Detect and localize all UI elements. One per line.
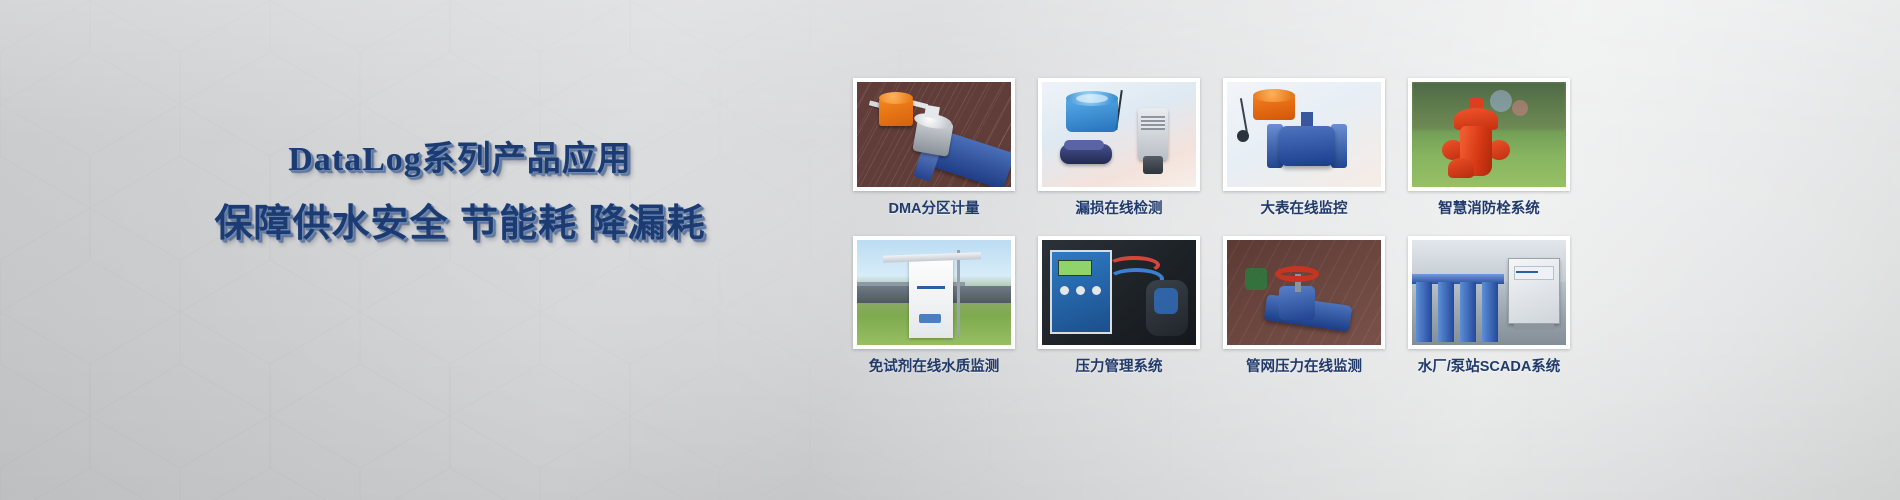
grid-item-caption: 免试剂在线水质监测 — [853, 358, 1015, 376]
grid-item-dma-zone-metering[interactable]: DMA分区计量 — [853, 78, 1015, 218]
grid-item-pressure-management-system[interactable]: 压力管理系统 — [1038, 236, 1200, 376]
pressure-management-system-photo — [1042, 240, 1196, 345]
grid-item-smart-fire-hydrant[interactable]: 智慧消防栓系统 — [1408, 78, 1570, 218]
grid-item-caption: DMA分区计量 — [853, 200, 1015, 218]
grid-item-caption: 水厂/泵站SCADA系统 — [1408, 358, 1570, 376]
product-application-grid: DMA分区计量 漏损在线检测 大表在线监控 — [853, 78, 1570, 376]
thumbnail-frame[interactable] — [1408, 78, 1570, 191]
grid-item-caption: 智慧消防栓系统 — [1408, 200, 1570, 218]
grid-item-caption: 压力管理系统 — [1038, 358, 1200, 376]
headline-line-2: 保障供水安全 节能耗 降漏耗 — [150, 202, 770, 246]
grid-item-caption: 管网压力在线监测 — [1223, 358, 1385, 376]
grid-item-waterworks-scada[interactable]: 水厂/泵站SCADA系统 — [1408, 236, 1570, 376]
grid-item-water-quality-monitoring[interactable]: 免试剂在线水质监测 — [853, 236, 1015, 376]
thumbnail-frame[interactable] — [1038, 236, 1200, 349]
product-application-banner: DataLog系列产品应用 保障供水安全 节能耗 降漏耗 DMA分区计量 — [0, 0, 1900, 500]
thumbnail-frame[interactable] — [853, 78, 1015, 191]
thumbnail-frame[interactable] — [853, 236, 1015, 349]
grid-item-caption: 漏损在线检测 — [1038, 200, 1200, 218]
grid-item-leakage-online-detection[interactable]: 漏损在线检测 — [1038, 78, 1200, 218]
headline-block: DataLog系列产品应用 保障供水安全 节能耗 降漏耗 — [150, 140, 770, 246]
grid-item-pipe-network-pressure[interactable]: 管网压力在线监测 — [1223, 236, 1385, 376]
waterworks-pump-scada-photo — [1412, 240, 1566, 345]
grid-item-large-meter-monitoring[interactable]: 大表在线监控 — [1223, 78, 1385, 218]
pipe-network-pressure-photo — [1227, 240, 1381, 345]
headline-line-1: DataLog系列产品应用 — [150, 140, 770, 180]
thumbnail-frame[interactable] — [1223, 236, 1385, 349]
reagent-free-water-quality-photo — [857, 240, 1011, 345]
large-meter-online-monitoring-photo — [1227, 82, 1381, 187]
thumbnail-frame[interactable] — [1038, 78, 1200, 191]
grid-item-caption: 大表在线监控 — [1223, 200, 1385, 218]
dma-zone-metering-photo — [857, 82, 1011, 187]
thumbnail-frame[interactable] — [1223, 78, 1385, 191]
thumbnail-frame[interactable] — [1408, 236, 1570, 349]
leakage-online-detection-photo — [1042, 82, 1196, 187]
smart-fire-hydrant-photo — [1412, 82, 1566, 187]
